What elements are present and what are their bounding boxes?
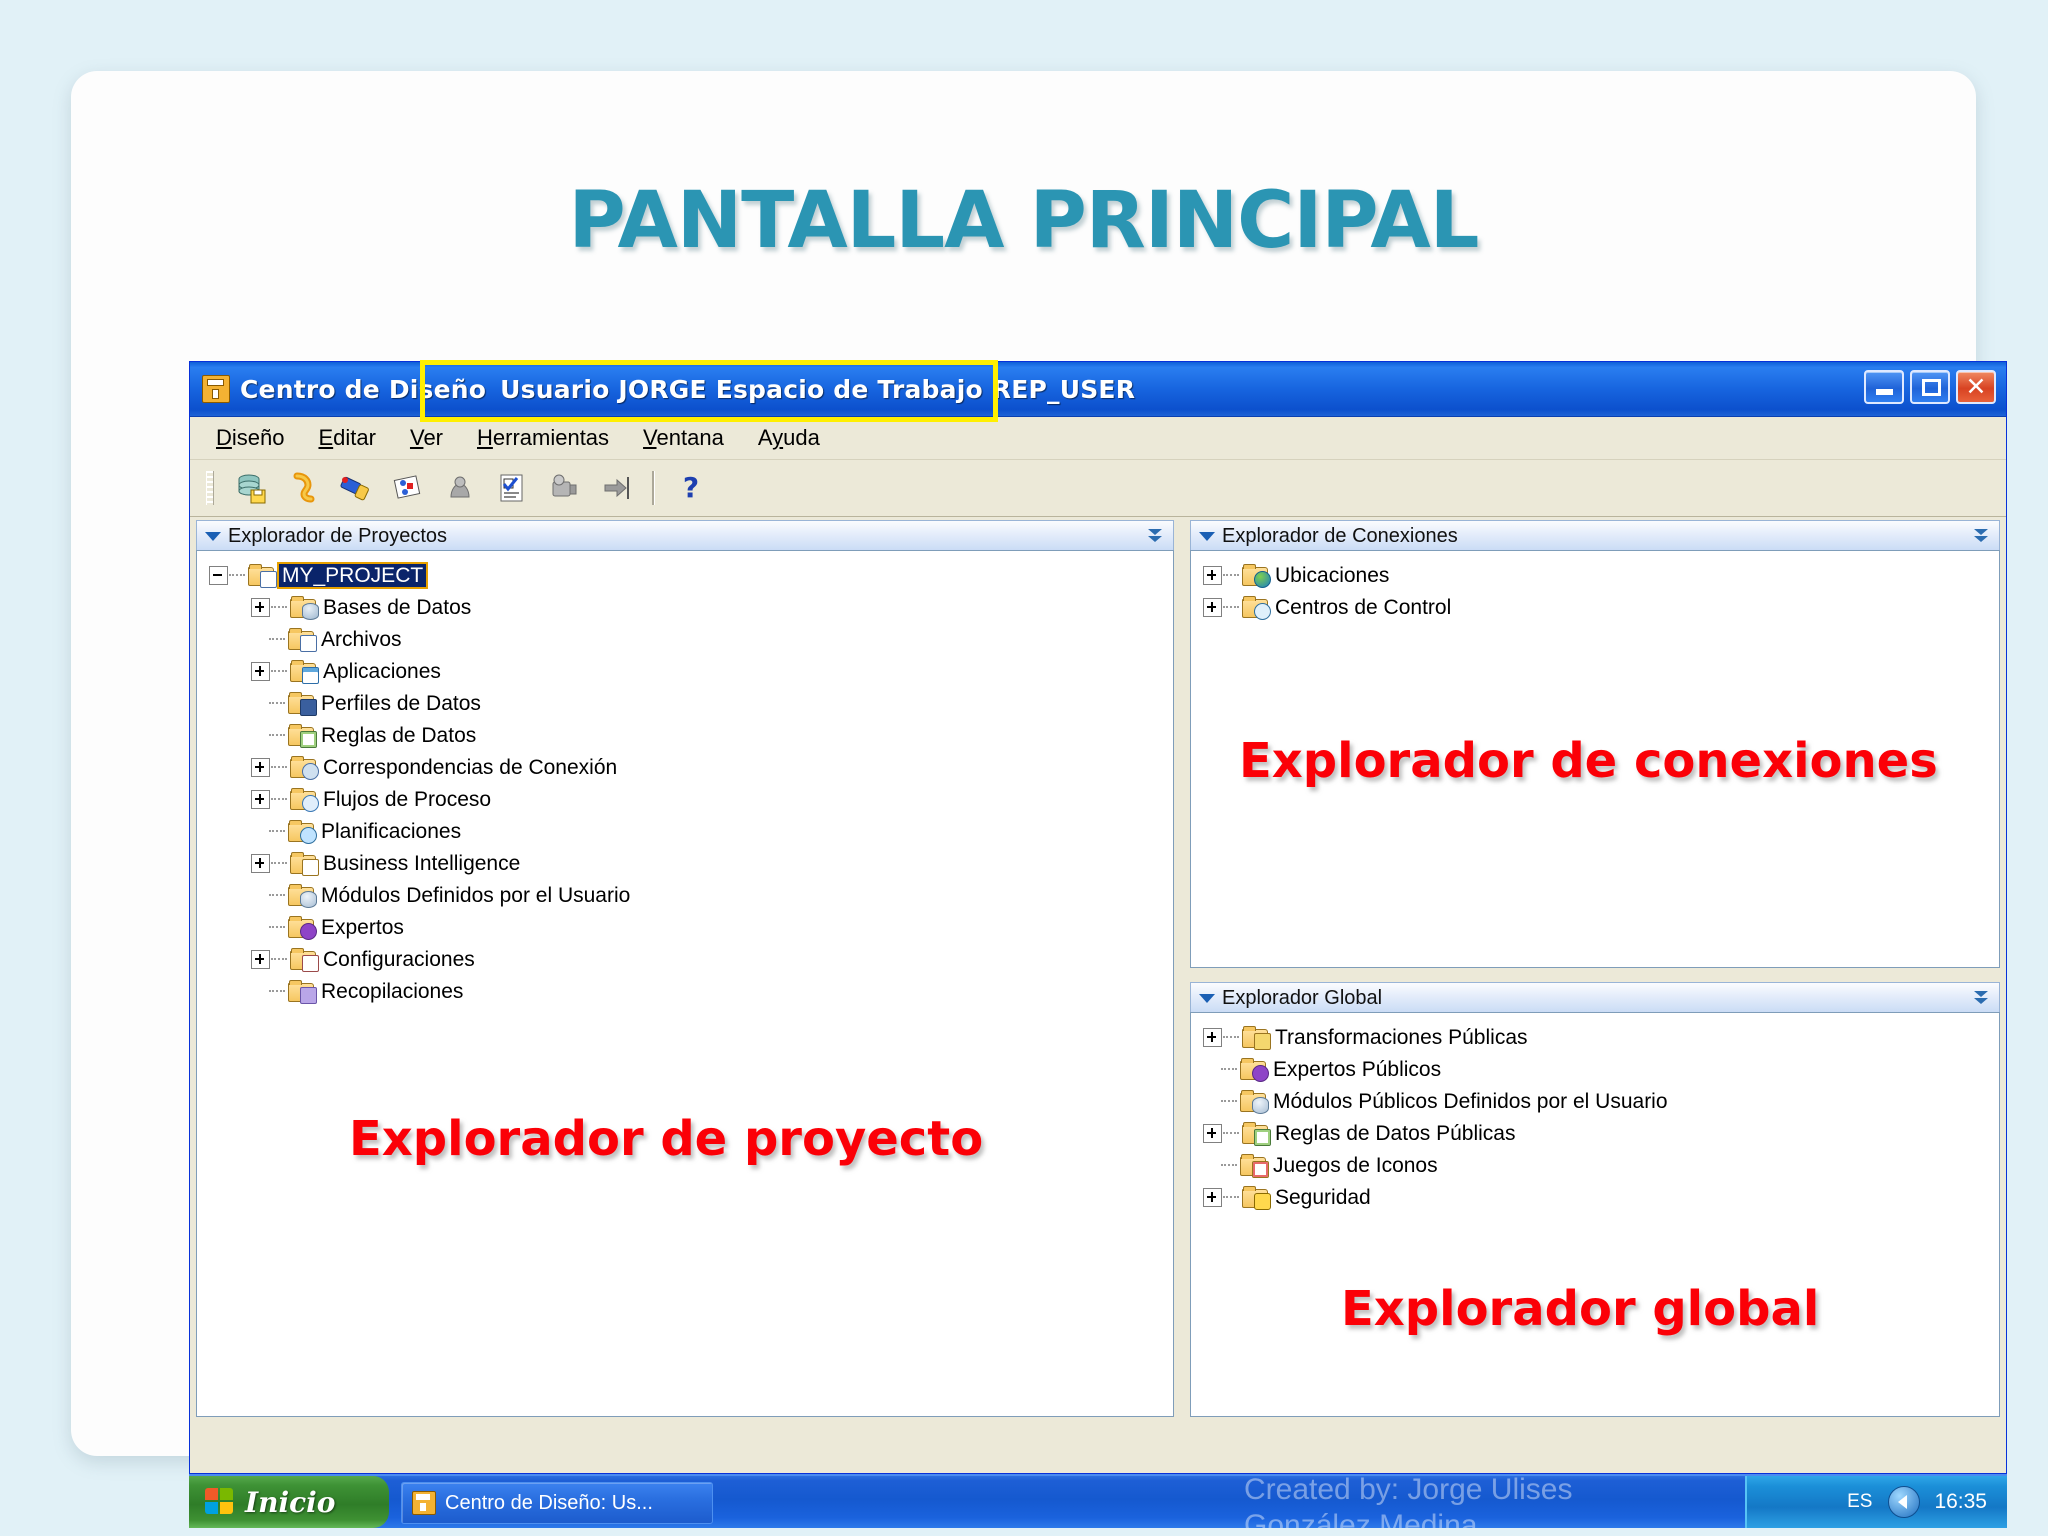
folder-file-icon xyxy=(288,628,314,650)
menu-item-editar[interactable]: Editar xyxy=(318,425,375,451)
tree-node[interactable]: Ubicaciones xyxy=(1197,559,1999,591)
annotation-explorador-de-conexiones: Explorador de conexiones xyxy=(1239,733,1938,789)
taskbar-item-centro-de-diseno[interactable]: Centro de Diseño: Us... xyxy=(401,1482,713,1524)
tree-node-label: Configuraciones xyxy=(323,949,475,970)
tree-node-label: Business Intelligence xyxy=(323,853,520,874)
tree-node-label: Flujos de Proceso xyxy=(323,789,491,810)
clock[interactable]: 16:35 xyxy=(1934,1490,1987,1514)
checklist-icon[interactable] xyxy=(486,466,538,510)
tree-node[interactable]: Reglas de Datos Públicas xyxy=(1197,1117,1999,1149)
tree-node-label: Módulos Definidos por el Usuario xyxy=(321,885,630,906)
tree-connector xyxy=(271,958,287,961)
tree-node[interactable]: Archivos xyxy=(203,623,1173,655)
start-button[interactable]: Inicio xyxy=(189,1476,389,1528)
panel-body-projects[interactable]: MY_PROJECTBases de DatosArchivosAplicaci… xyxy=(196,550,1174,1417)
tree-indent xyxy=(251,695,268,712)
arrow-right-icon[interactable] xyxy=(590,466,642,510)
flashlight-icon[interactable] xyxy=(330,466,382,510)
folder-config-icon xyxy=(290,948,316,970)
tree-node-label: Recopilaciones xyxy=(321,981,463,1002)
tree-node[interactable]: Planificaciones xyxy=(203,815,1173,847)
panel-body-global[interactable]: Transformaciones PúblicasExpertos Públic… xyxy=(1190,1012,2000,1417)
expand-toggle-icon[interactable] xyxy=(251,662,270,681)
tree-node-label: Aplicaciones xyxy=(323,661,441,682)
tree-node-label: Centros de Control xyxy=(1275,597,1451,618)
auto-hide-icon[interactable] xyxy=(1972,987,1990,1009)
tree-connector xyxy=(229,574,245,577)
app-window-icon xyxy=(412,1491,436,1515)
close-icon: ✕ xyxy=(1958,372,1994,402)
tree-connector xyxy=(1221,1068,1237,1071)
global-tree[interactable]: Transformaciones PúblicasExpertos Públic… xyxy=(1191,1013,1999,1213)
expand-toggle-icon[interactable] xyxy=(251,950,270,969)
window-title-prefix: Centro de Diseño xyxy=(240,375,486,404)
toolbar-separator xyxy=(652,471,655,505)
folder-bi-icon xyxy=(290,852,316,874)
tree-indent xyxy=(1203,1157,1220,1174)
tree-connector xyxy=(269,638,285,641)
tree-indent xyxy=(251,631,268,648)
tree-indent xyxy=(251,919,268,936)
connections-tree[interactable]: UbicacionesCentros de Control xyxy=(1191,551,1999,623)
tree-node-label: Juegos de Iconos xyxy=(1273,1155,1438,1176)
tree-node-label: Archivos xyxy=(321,629,402,650)
tree-node[interactable]: Business Intelligence xyxy=(203,847,1173,879)
project-tree[interactable]: MY_PROJECTBases de DatosArchivosAplicaci… xyxy=(197,551,1173,1007)
tree-connector xyxy=(1223,606,1239,609)
expand-toggle-icon[interactable] xyxy=(251,758,270,777)
tree-connector xyxy=(1223,574,1239,577)
folder-connection-icon xyxy=(290,756,316,778)
tree-node[interactable]: Recopilaciones xyxy=(203,975,1173,1007)
tree-connector xyxy=(1223,1132,1239,1135)
panel-header-connections[interactable]: Explorador de Conexiones xyxy=(1190,520,2000,551)
tree-node-label: MY_PROJECT xyxy=(279,564,426,587)
tree-node-label: Correspondencias de Conexión xyxy=(323,757,617,778)
tree-node-label: Reglas de Datos xyxy=(321,725,476,746)
minimize-button[interactable] xyxy=(1864,370,1904,404)
tree-connector xyxy=(269,990,285,993)
menu-item-diseno[interactable]: Diseño xyxy=(216,425,284,451)
folder-flow-icon xyxy=(290,788,316,810)
menubar: Diseño Editar Ver Herramientas Ventana A… xyxy=(190,417,2006,460)
panel-title-connections: Explorador de Conexiones xyxy=(1222,525,1458,548)
tree-connector xyxy=(1223,1036,1239,1039)
tree-node-label: Perfiles de Datos xyxy=(321,693,481,714)
help-icon[interactable]: ? xyxy=(665,466,717,510)
menu-item-ayuda[interactable]: Ayuda xyxy=(758,425,820,451)
menu-item-herramientas[interactable]: Herramientas xyxy=(477,425,609,451)
tree-node[interactable]: Módulos Definidos por el Usuario xyxy=(203,879,1173,911)
tree-indent xyxy=(251,887,268,904)
minimize-icon xyxy=(1876,389,1893,395)
tree-node[interactable]: Seguridad xyxy=(1197,1181,1999,1213)
tree-node-label: Seguridad xyxy=(1275,1187,1371,1208)
toolbar-grip[interactable] xyxy=(206,471,214,505)
tree-node-label: Bases de Datos xyxy=(323,597,471,618)
volume-icon[interactable] xyxy=(1888,1486,1920,1518)
tree-node-label: Planificaciones xyxy=(321,821,461,842)
window-titlebar[interactable]: Centro de Diseño Usuario JORGE Espacio d… xyxy=(190,362,2006,417)
tree-node[interactable]: Correspondencias de Conexión xyxy=(203,751,1173,783)
maximize-icon xyxy=(1922,379,1941,396)
tree-connector xyxy=(271,862,287,865)
expand-toggle-icon[interactable] xyxy=(1203,566,1222,585)
panel-explorador-de-proyectos: Explorador de Proyectos MY_PROJECTBases … xyxy=(196,520,1174,1417)
annotation-explorador-global: Explorador global xyxy=(1341,1281,1819,1337)
folder-expert-icon xyxy=(1240,1058,1266,1080)
expand-toggle-icon[interactable] xyxy=(1203,1124,1222,1143)
tags-icon[interactable] xyxy=(382,466,434,510)
tree-node[interactable]: Juegos de Iconos xyxy=(1197,1149,1999,1181)
page-title: PANTALLA PRINCIPAL xyxy=(71,176,1976,266)
tree-node[interactable]: Centros de Control xyxy=(1197,591,1999,623)
expand-toggle-icon[interactable] xyxy=(1203,1028,1222,1047)
tree-node[interactable]: Transformaciones Públicas xyxy=(1197,1021,1999,1053)
folder-transform-icon xyxy=(1242,1026,1268,1048)
tree-connector xyxy=(1223,1196,1239,1199)
window-title-highlight-text: Usuario JORGE Espacio de Trabajo REP_USE… xyxy=(500,375,1135,404)
folder-iconset-icon xyxy=(1240,1154,1266,1176)
tree-connector xyxy=(271,670,287,673)
taskbar-item-label: Centro de Diseño: Us... xyxy=(445,1492,653,1515)
collapse-toggle-icon[interactable] xyxy=(209,566,228,585)
menu-item-ver[interactable]: Ver xyxy=(410,425,443,451)
chevron-down-icon[interactable] xyxy=(1199,532,1215,541)
tree-node-label: Expertos Públicos xyxy=(1273,1059,1441,1080)
app-window-icon xyxy=(202,375,230,403)
tree-connector xyxy=(1221,1164,1237,1167)
folder-application-icon xyxy=(290,660,316,682)
tree-node-label: Expertos xyxy=(321,917,404,938)
folder-rule-icon xyxy=(288,724,314,746)
tree-indent xyxy=(251,727,268,744)
folder-schedule-icon xyxy=(288,820,314,842)
folder-module-icon xyxy=(1240,1090,1266,1112)
folder-rule-icon xyxy=(1242,1122,1268,1144)
folder-database-icon xyxy=(290,596,316,618)
panel-title-projects: Explorador de Proyectos xyxy=(228,525,447,548)
expand-toggle-icon[interactable] xyxy=(251,790,270,809)
maximize-button[interactable] xyxy=(1910,370,1950,404)
expand-toggle-icon[interactable] xyxy=(251,598,270,617)
tree-indent xyxy=(1203,1061,1220,1078)
tree-connector xyxy=(271,766,287,769)
tree-connector xyxy=(269,926,285,929)
svg-text:?: ? xyxy=(683,471,699,504)
tree-node-label: Ubicaciones xyxy=(1275,565,1389,586)
tree-node[interactable]: Módulos Públicos Definidos por el Usuari… xyxy=(1197,1085,1999,1117)
tree-node[interactable]: Bases de Datos xyxy=(203,591,1173,623)
tree-root-node[interactable]: MY_PROJECT xyxy=(203,559,1173,591)
watermark-line-1: Created by: Jorge Ulises xyxy=(1244,1474,1674,1508)
auto-hide-icon[interactable] xyxy=(1146,525,1164,547)
menu-item-ventana[interactable]: Ventana xyxy=(643,425,724,451)
tree-indent xyxy=(1203,1093,1220,1110)
folder-module-icon xyxy=(288,884,314,906)
auto-hide-icon[interactable] xyxy=(1972,525,1990,547)
tree-node-label: Reglas de Datos Públicas xyxy=(1275,1123,1515,1144)
tree-connector xyxy=(271,606,287,609)
chevron-down-icon[interactable] xyxy=(205,532,221,541)
folder-collection-icon xyxy=(288,980,314,1002)
window-controls: ✕ xyxy=(1864,370,1996,404)
tree-connector xyxy=(271,798,287,801)
expand-toggle-icon[interactable] xyxy=(1203,598,1222,617)
toolbar: ? xyxy=(190,460,2006,517)
camera-icon[interactable] xyxy=(538,466,590,510)
panel-explorador-global: Explorador Global Transformaciones Públi… xyxy=(1190,982,2000,1417)
taskbar: Inicio Centro de Diseño: Us... Created b… xyxy=(189,1474,2007,1528)
folder-globe-icon xyxy=(1242,564,1268,586)
folder-control-center-icon xyxy=(1242,596,1268,618)
tree-node[interactable]: Flujos de Proceso xyxy=(203,783,1173,815)
project-icon xyxy=(248,564,274,586)
language-indicator[interactable]: ES xyxy=(1847,1491,1872,1513)
system-tray: ES 16:35 xyxy=(1745,1476,2007,1528)
tree-connector xyxy=(269,894,285,897)
tree-connector xyxy=(269,702,285,705)
tree-node[interactable]: Expertos xyxy=(203,911,1173,943)
tree-node[interactable]: Expertos Públicos xyxy=(1197,1053,1999,1085)
cast-icon[interactable] xyxy=(434,466,486,510)
panel-header-global[interactable]: Explorador Global xyxy=(1190,982,2000,1013)
slide-card: PANTALLA PRINCIPAL Centro de Diseño Usua… xyxy=(71,71,1976,1456)
save-database-icon[interactable] xyxy=(226,466,278,510)
folder-security-icon xyxy=(1242,1186,1268,1208)
tree-node[interactable]: Configuraciones xyxy=(203,943,1173,975)
expand-toggle-icon[interactable] xyxy=(251,854,270,873)
tree-indent xyxy=(251,823,268,840)
annotation-explorador-de-proyecto: Explorador de proyecto xyxy=(349,1111,983,1167)
tree-node-label: Transformaciones Públicas xyxy=(1275,1027,1528,1048)
tree-node-label: Módulos Públicos Definidos por el Usuari… xyxy=(1273,1091,1668,1112)
watermark: Created by: Jorge Ulises González Medina xyxy=(1244,1474,1674,1528)
windows-logo-icon xyxy=(205,1488,235,1516)
tree-connector xyxy=(269,830,285,833)
expand-toggle-icon[interactable] xyxy=(1203,1188,1222,1207)
tree-node[interactable]: Aplicaciones xyxy=(203,655,1173,687)
folder-profile-icon xyxy=(288,692,314,714)
tree-connector xyxy=(1221,1100,1237,1103)
watermark-line-2: González Medina xyxy=(1244,1508,1674,1528)
snake-icon[interactable] xyxy=(278,466,330,510)
panel-header-projects[interactable]: Explorador de Proyectos xyxy=(196,520,1174,551)
folder-expert-icon xyxy=(288,916,314,938)
start-button-label: Inicio xyxy=(245,1486,335,1519)
tree-node[interactable]: Perfiles de Datos xyxy=(203,687,1173,719)
tree-connector xyxy=(269,734,285,737)
panel-title-global: Explorador Global xyxy=(1222,987,1382,1010)
chevron-down-icon[interactable] xyxy=(1199,994,1215,1003)
tree-indent xyxy=(251,983,268,1000)
close-button[interactable]: ✕ xyxy=(1956,370,1996,404)
tree-node[interactable]: Reglas de Datos xyxy=(203,719,1173,751)
